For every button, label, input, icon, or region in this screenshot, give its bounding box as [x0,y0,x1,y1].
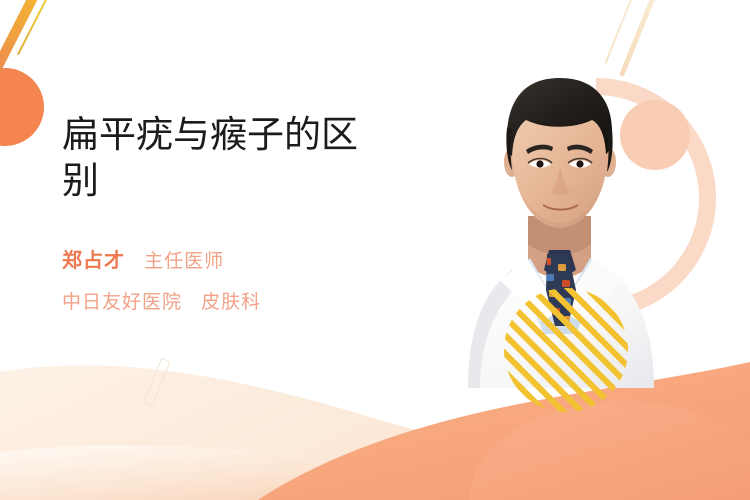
page-title: 扁平疣与瘊子的区别 [62,112,392,204]
doctor-portrait [450,58,680,388]
pupil-right [576,160,583,167]
department-name: 皮肤科 [201,291,261,313]
doctor-rank: 主任医师 [144,250,224,272]
promo-card: 扁平疣与瘊子的区别 郑占才 主任医师 中日友好医院 皮肤科 [0,0,750,500]
hospital-line: 中日友好医院 皮肤科 [62,287,412,314]
doctor-line: 郑占才 主任医师 [62,244,412,273]
hospital-name: 中日友好医院 [62,291,182,313]
doctor-name: 郑占才 [62,248,125,272]
text-block: 扁平疣与瘊子的区别 郑占才 主任医师 中日友好医院 皮肤科 [62,112,412,314]
pupil-left [536,160,543,167]
